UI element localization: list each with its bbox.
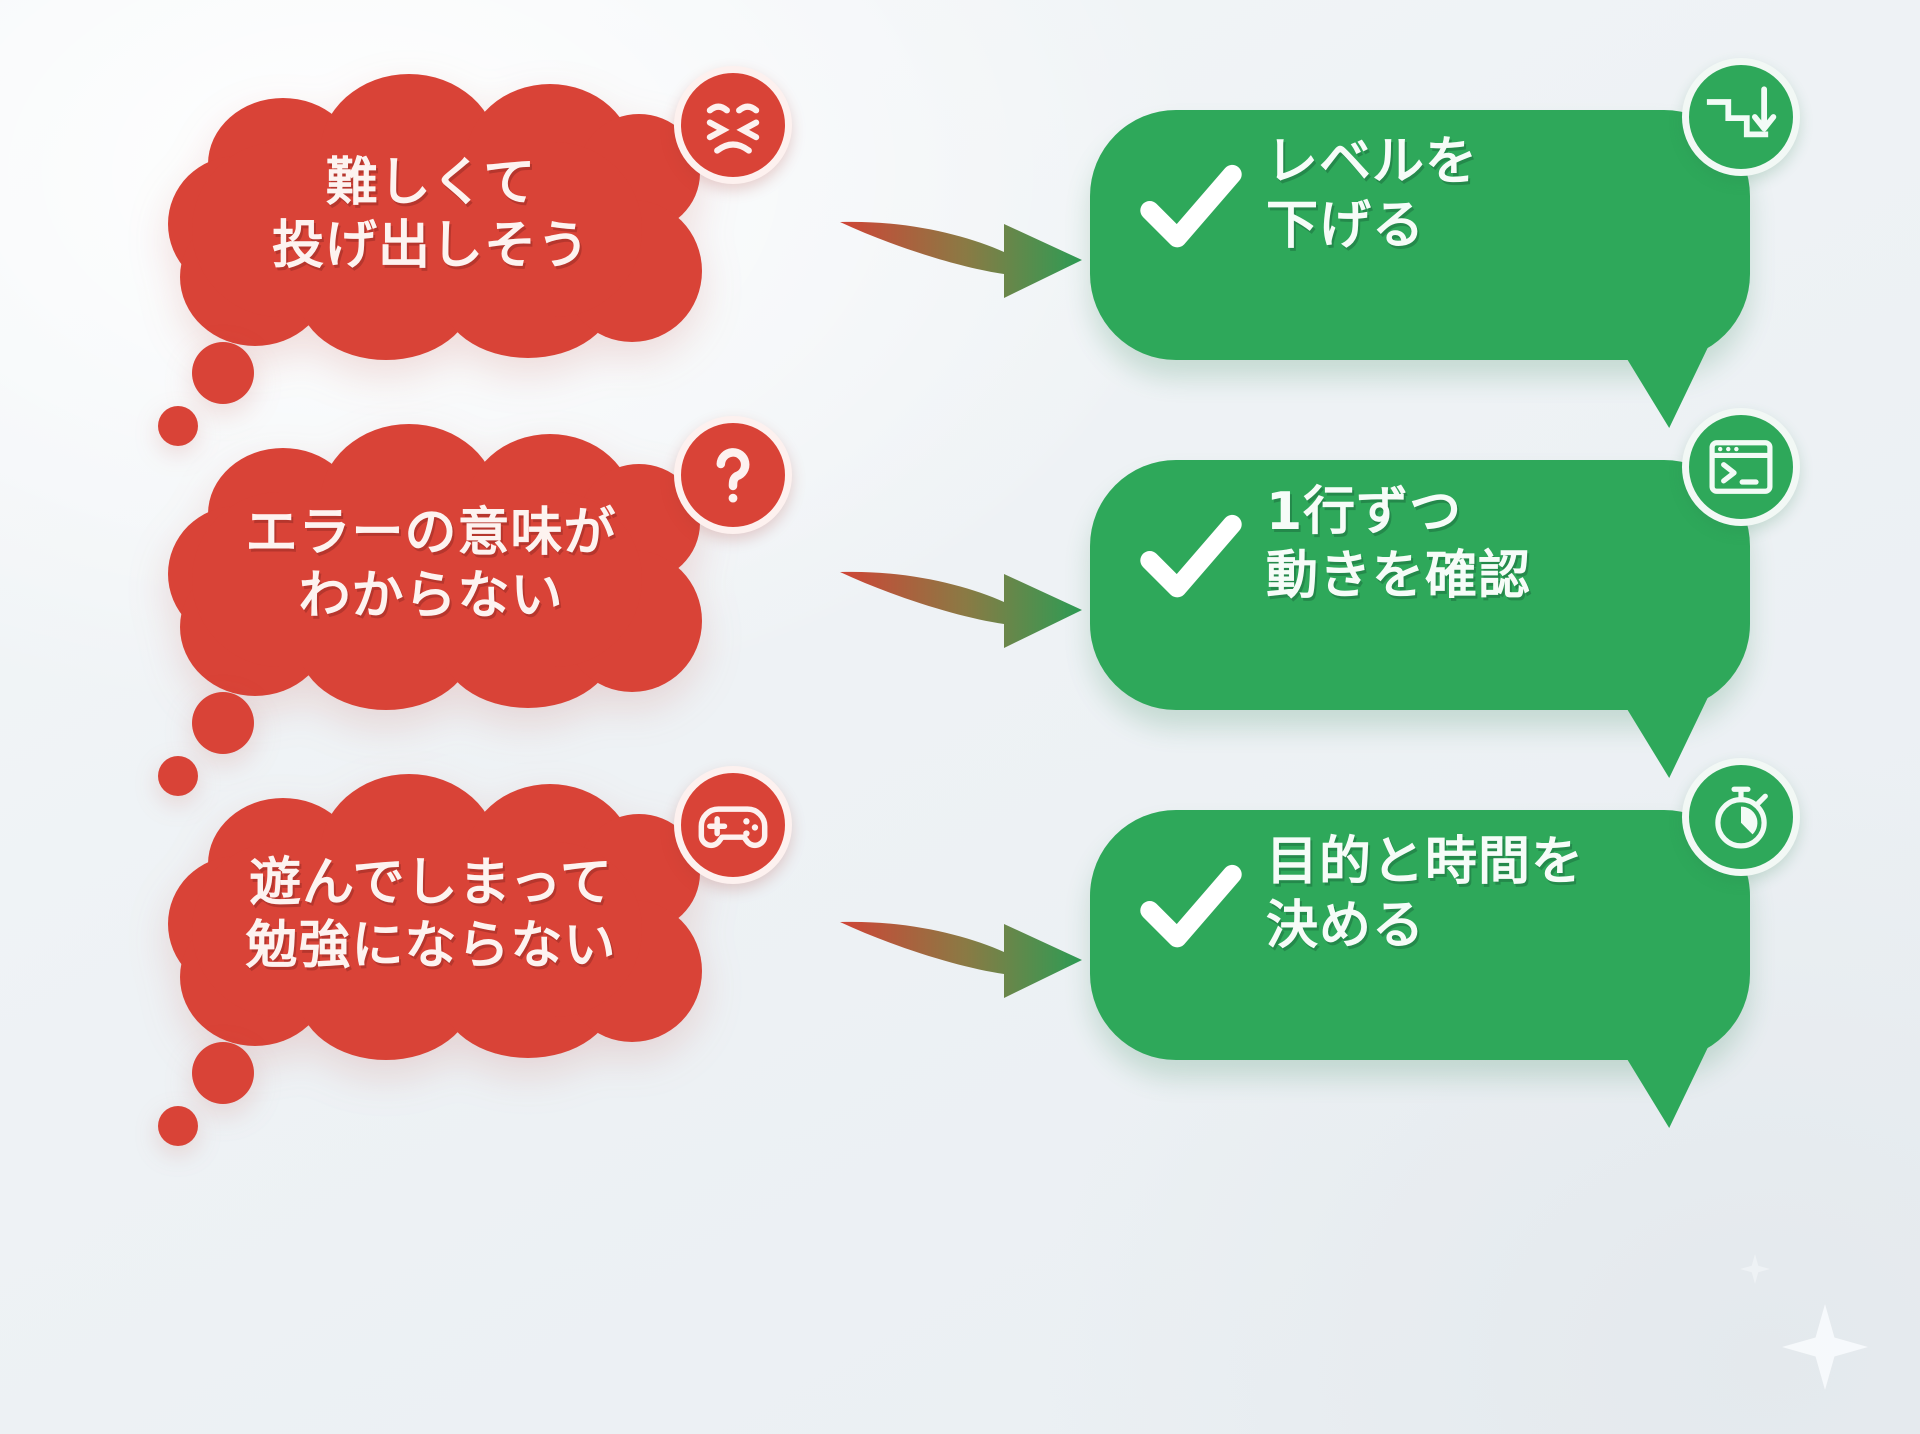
problem-label: 遊んでしまって 勉強にならない: [196, 852, 666, 979]
problem-label: 難しくて 投げ出しそう: [196, 152, 666, 279]
stairs-down-arrow-icon: [1682, 58, 1800, 176]
thought-tail-large: [192, 1042, 254, 1104]
four-point-sparkle-icon: [1782, 1304, 1868, 1390]
solution-label: 1行ずつ 動きを確認: [1266, 480, 1736, 609]
problem-solution-row: エラーの意味が わからない 1行ずつ 動きを確認: [0, 410, 1920, 770]
stopwatch-icon: [1682, 758, 1800, 876]
problem-solution-row: 難しくて 投げ出しそう: [0, 60, 1920, 420]
terminal-console-icon: [1682, 408, 1800, 526]
solution-label: 目的と時間を 決める: [1266, 830, 1736, 959]
problem-thought-cloud[interactable]: 難しくて 投げ出しそう: [150, 60, 710, 420]
gamepad-icon: [674, 766, 792, 884]
infographic-canvas: 難しくて 投げ出しそう: [0, 0, 1920, 1434]
problem-solution-row: 遊んでしまって 勉強にならない: [0, 760, 1920, 1120]
tired-face-emoji-icon: [674, 66, 792, 184]
curved-arrow-icon: [836, 180, 1086, 310]
thought-tail-large: [192, 342, 254, 404]
problem-thought-cloud[interactable]: エラーの意味が わからない: [150, 410, 710, 770]
solution-speech-bubble[interactable]: 目的と時間を 決める: [1090, 770, 1790, 1100]
problem-thought-cloud[interactable]: 遊んでしまって 勉強にならない: [150, 760, 710, 1120]
four-point-sparkle-icon: [1740, 1254, 1770, 1284]
check-icon: [1136, 502, 1246, 612]
thought-tail-large: [192, 692, 254, 754]
question-mark-icon: [674, 416, 792, 534]
check-icon: [1136, 152, 1246, 262]
curved-arrow-icon: [836, 530, 1086, 660]
curved-arrow-icon: [836, 880, 1086, 1010]
solution-speech-bubble[interactable]: レベルを 下げる: [1090, 70, 1790, 400]
solution-label: レベルを 下げる: [1266, 130, 1736, 259]
check-icon: [1136, 852, 1246, 962]
problem-label: エラーの意味が わからない: [196, 502, 666, 629]
solution-speech-bubble[interactable]: 1行ずつ 動きを確認: [1090, 420, 1790, 750]
thought-tail-small: [158, 1106, 198, 1146]
